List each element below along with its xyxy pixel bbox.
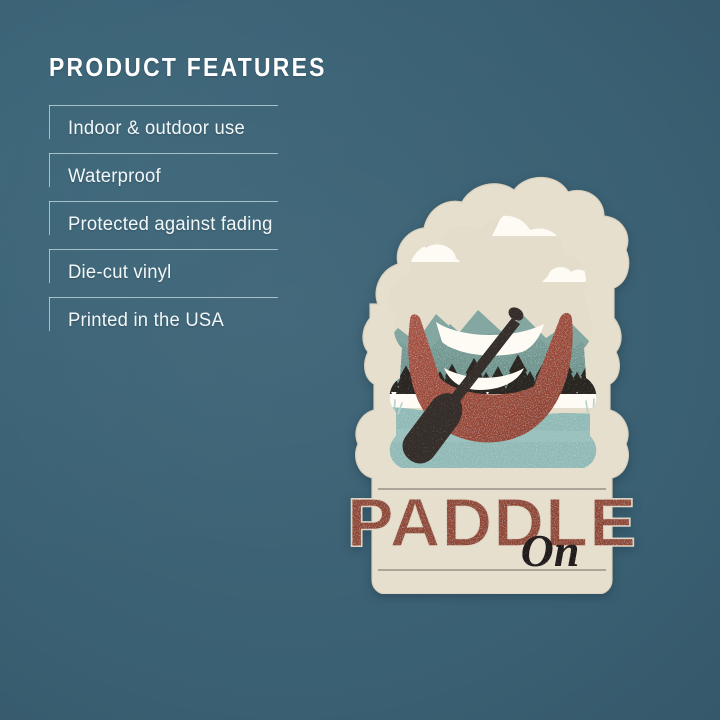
feature-label: Indoor & outdoor use bbox=[68, 118, 245, 140]
divider-rule bbox=[49, 297, 278, 298]
bracket-stub bbox=[49, 249, 50, 283]
bracket-stub bbox=[49, 297, 50, 331]
bracket-stub bbox=[49, 153, 50, 187]
product-features-panel: PRODUCT FEATURES Indoor & outdoor use Wa… bbox=[49, 52, 349, 345]
paddle-on-sticker-image: PADDLE PADDLE On bbox=[332, 142, 652, 594]
list-item: Indoor & outdoor use bbox=[49, 105, 349, 153]
divider-rule bbox=[49, 153, 278, 154]
bracket-stub bbox=[49, 201, 50, 235]
sticker-title-paddle-inline: PADDLE bbox=[347, 484, 637, 561]
feature-label: Waterproof bbox=[68, 166, 161, 188]
feature-label: Printed in the USA bbox=[68, 310, 224, 332]
bracket-stub bbox=[49, 105, 50, 139]
sticker-title-on: On bbox=[521, 525, 580, 576]
feature-label: Die-cut vinyl bbox=[68, 262, 172, 284]
page-title: PRODUCT FEATURES bbox=[49, 52, 313, 83]
features-list: Indoor & outdoor use Waterproof Protecte… bbox=[49, 105, 349, 345]
list-item: Protected against fading bbox=[49, 201, 349, 249]
list-item: Die-cut vinyl bbox=[49, 249, 349, 297]
list-item: Printed in the USA bbox=[49, 297, 349, 345]
divider-rule bbox=[49, 105, 278, 106]
divider-rule bbox=[49, 201, 278, 202]
divider-rule bbox=[49, 249, 278, 250]
feature-label: Protected against fading bbox=[68, 214, 273, 236]
list-item: Waterproof bbox=[49, 153, 349, 201]
